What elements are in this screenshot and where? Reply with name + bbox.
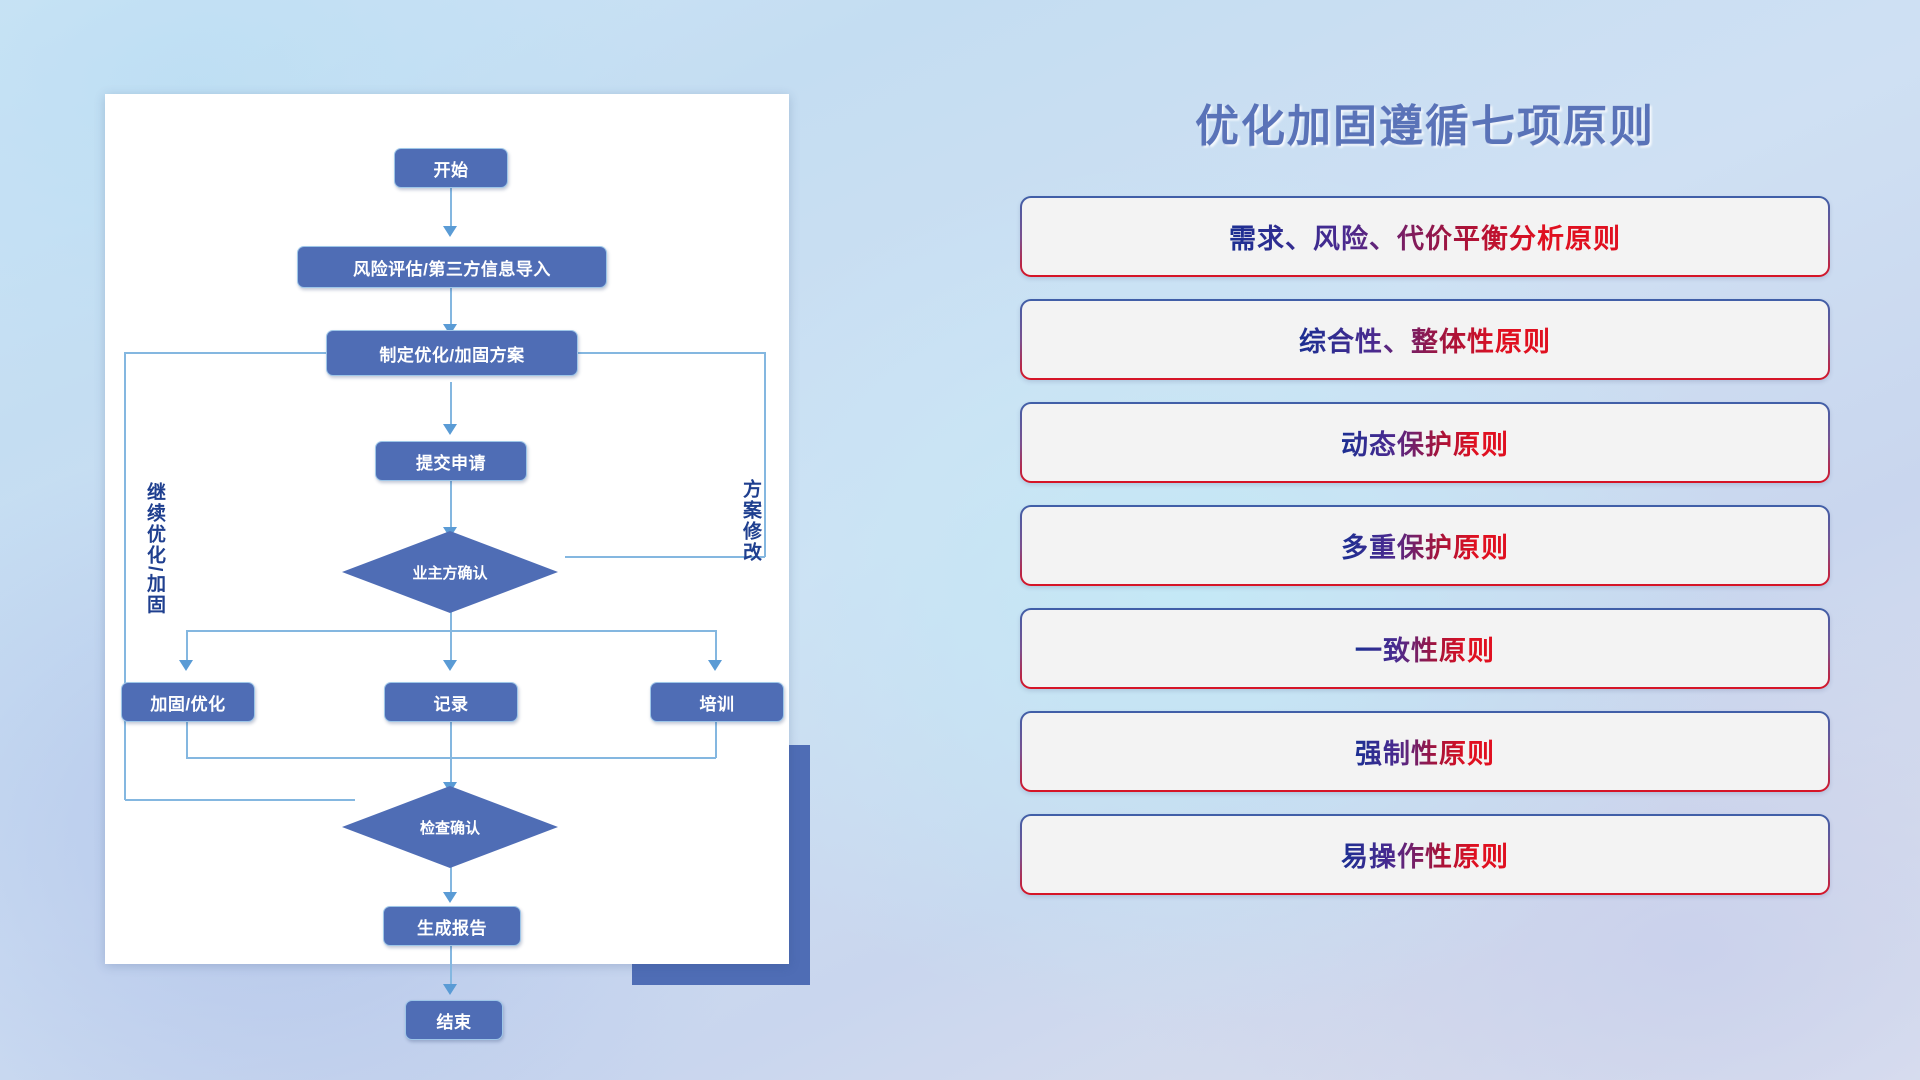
- connector-train-down: [715, 720, 717, 758]
- slide-background: 开始 风险评估/第三方信息导入 制定优化/加固方案 提交申请 业主方确认 加固/…: [0, 0, 1920, 1080]
- arrow-report-end: [443, 984, 457, 995]
- principle-card[interactable]: 动态保护原则: [1020, 402, 1830, 483]
- edge-label-plan-revision: 方案修改: [737, 479, 764, 563]
- flow-node-owner-confirm[interactable]: 业主方确认: [342, 531, 558, 613]
- principle-card[interactable]: 综合性、整体性原则: [1020, 299, 1830, 380]
- connector-owner-right: [565, 556, 765, 558]
- arrow-plan-submit: [443, 424, 457, 435]
- arrow-start-risk: [443, 226, 457, 237]
- panel-title: 优化加固遵循七项原则: [1020, 90, 1830, 154]
- principle-label: 易操作性原则: [1341, 835, 1509, 874]
- flow-node-reinforce[interactable]: 加固/优化: [121, 682, 255, 722]
- connector-branch-mid: [450, 630, 452, 664]
- principle-label: 多重保护原则: [1341, 526, 1509, 565]
- connector-left-to-plan: [124, 352, 346, 354]
- flow-node-submit[interactable]: 提交申请: [375, 441, 527, 481]
- flow-node-end[interactable]: 结束: [405, 1000, 503, 1040]
- connector-start-risk: [450, 184, 452, 230]
- flow-node-check-confirm[interactable]: 检查确认: [342, 786, 558, 868]
- principle-label: 一致性原则: [1355, 629, 1495, 668]
- principle-card[interactable]: 强制性原则: [1020, 711, 1830, 792]
- flow-node-reinforce-label: 加固/优化: [150, 690, 225, 715]
- flow-node-record-label: 记录: [434, 690, 469, 715]
- principle-card[interactable]: 需求、风险、代价平衡分析原则: [1020, 196, 1830, 277]
- principle-label: 动态保护原则: [1341, 423, 1509, 462]
- connector-submit-owner: [450, 479, 452, 531]
- flow-node-start[interactable]: 开始: [394, 148, 508, 188]
- principle-label: 强制性原则: [1355, 732, 1495, 771]
- flow-node-training-label: 培训: [700, 690, 735, 715]
- flow-node-submit-label: 提交申请: [416, 449, 486, 474]
- flow-node-check-confirm-label: 检查确认: [420, 817, 480, 838]
- flow-node-start-label: 开始: [434, 156, 469, 181]
- flow-node-record[interactable]: 记录: [384, 682, 518, 722]
- connector-branch-right: [715, 630, 717, 664]
- flow-node-owner-confirm-label: 业主方确认: [412, 562, 487, 583]
- arrow-check-report: [443, 892, 457, 903]
- flowchart-card: 开始 风险评估/第三方信息导入 制定优化/加固方案 提交申请 业主方确认 加固/…: [105, 94, 789, 964]
- flow-node-report[interactable]: 生成报告: [383, 906, 521, 946]
- connector-right-up: [764, 352, 766, 557]
- connector-reinforce-down: [186, 720, 188, 758]
- flow-node-plan[interactable]: 制定优化/加固方案: [326, 330, 578, 376]
- flow-node-report-label: 生成报告: [417, 914, 487, 939]
- connector-report-end: [450, 944, 452, 988]
- principle-label: 需求、风险、代价平衡分析原则: [1229, 217, 1621, 256]
- edge-label-continue-optimize: 继续优化/加固: [141, 482, 168, 615]
- arrow-branch-reinforce: [179, 660, 193, 671]
- flow-node-plan-label: 制定优化/加固方案: [379, 341, 524, 366]
- principle-label: 综合性、整体性原则: [1299, 320, 1551, 359]
- connector-left-up: [124, 352, 126, 800]
- connector-merge-mid: [450, 720, 452, 786]
- flow-node-risk-assessment-label: 风险评估/第三方信息导入: [353, 255, 551, 280]
- flow-node-risk-assessment[interactable]: 风险评估/第三方信息导入: [297, 246, 607, 288]
- principle-card[interactable]: 多重保护原则: [1020, 505, 1830, 586]
- principle-card[interactable]: 一致性原则: [1020, 608, 1830, 689]
- principle-card[interactable]: 易操作性原则: [1020, 814, 1830, 895]
- flow-node-end-label: 结束: [437, 1008, 472, 1033]
- connector-branch-left: [186, 630, 188, 664]
- connector-check-left: [125, 799, 355, 801]
- arrow-branch-train: [708, 660, 722, 671]
- principles-panel: 优化加固遵循七项原则 需求、风险、代价平衡分析原则 综合性、整体性原则 动态保护…: [1020, 90, 1830, 917]
- arrow-branch-record: [443, 660, 457, 671]
- connector-plan-submit: [450, 382, 452, 428]
- connector-risk-plan: [450, 282, 452, 328]
- flow-node-training[interactable]: 培训: [650, 682, 784, 722]
